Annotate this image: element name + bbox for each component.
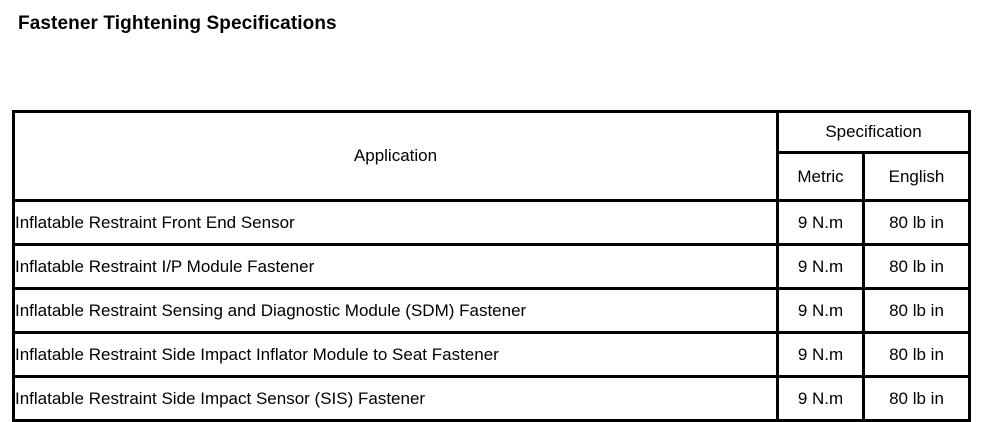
table-header-row-primary: Application Specification [14, 112, 970, 153]
cell-english: 80 lb in [864, 245, 970, 289]
column-header-specification: Specification [778, 112, 970, 153]
cell-application: Inflatable Restraint Sensing and Diagnos… [14, 289, 778, 333]
cell-english: 80 lb in [864, 201, 970, 245]
table-row: Inflatable Restraint Side Impact Inflato… [14, 333, 970, 377]
table-row: Inflatable Restraint Sensing and Diagnos… [14, 289, 970, 333]
cell-english: 80 lb in [864, 377, 970, 421]
cell-english: 80 lb in [864, 333, 970, 377]
cell-application: Inflatable Restraint Side Impact Sensor … [14, 377, 778, 421]
fastener-specification-table: Application Specification Metric English… [12, 110, 971, 422]
page-title: Fastener Tightening Specifications [18, 12, 337, 36]
cell-metric: 9 N.m [778, 377, 864, 421]
cell-metric: 9 N.m [778, 245, 864, 289]
table-body: Inflatable Restraint Front End Sensor 9 … [14, 201, 970, 421]
column-header-english: English [864, 153, 970, 201]
table-row: Inflatable Restraint I/P Module Fastener… [14, 245, 970, 289]
specification-table-container: Application Specification Metric English… [12, 110, 968, 422]
table-row: Inflatable Restraint Front End Sensor 9 … [14, 201, 970, 245]
column-header-metric: Metric [778, 153, 864, 201]
cell-metric: 9 N.m [778, 289, 864, 333]
cell-application: Inflatable Restraint Front End Sensor [14, 201, 778, 245]
table-row: Inflatable Restraint Side Impact Sensor … [14, 377, 970, 421]
table-header: Application Specification Metric English [14, 112, 970, 201]
column-header-application: Application [14, 112, 778, 201]
cell-metric: 9 N.m [778, 333, 864, 377]
cell-metric: 9 N.m [778, 201, 864, 245]
cell-english: 80 lb in [864, 289, 970, 333]
cell-application: Inflatable Restraint Side Impact Inflato… [14, 333, 778, 377]
cell-application: Inflatable Restraint I/P Module Fastener [14, 245, 778, 289]
